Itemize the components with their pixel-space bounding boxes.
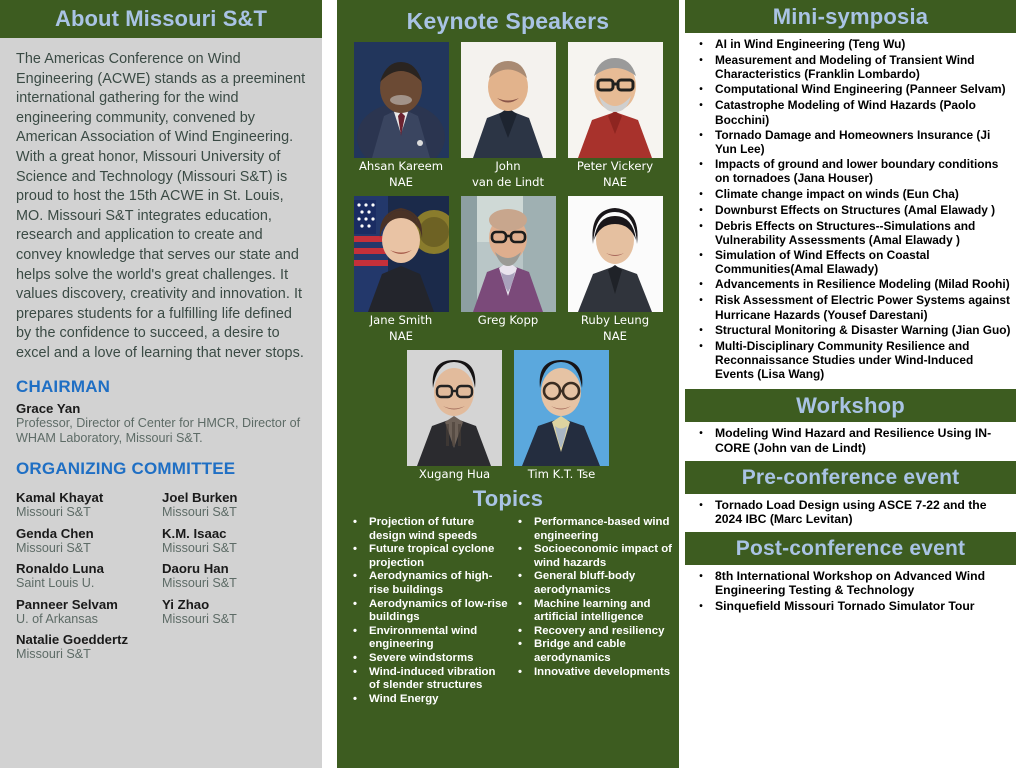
- topic-label: Aerodynamics of low-rise buildings: [369, 598, 508, 625]
- mini-symposia-list: •AI in Wind Engineering (Teng Wu) •Measu…: [685, 33, 1016, 381]
- list-item-label: Climate change impact on winds (Eun Cha): [715, 187, 1012, 202]
- speaker-card: John van de Lindt: [461, 42, 556, 189]
- portrait-ahsan-kareem: [354, 42, 449, 158]
- bullet-icon: •: [349, 652, 369, 666]
- speaker-row-1: Ahsan Kareem NAE John van de Lindt: [337, 42, 679, 189]
- member-affiliation: Missouri S&T: [162, 541, 308, 556]
- about-paragraph: The Americas Conference on Wind Engineer…: [16, 50, 308, 364]
- topic-label: Severe windstorms: [369, 652, 508, 666]
- list-item: •Simulation of Wind Effects on Coastal C…: [687, 248, 1012, 276]
- bullet-icon: •: [687, 293, 715, 321]
- topic-item: •General bluff-body aerodynamics: [514, 570, 673, 597]
- topic-label: General bluff-body aerodynamics: [534, 570, 673, 597]
- bullet-icon: •: [514, 570, 534, 597]
- bullet-icon: •: [687, 98, 715, 126]
- speaker-card: Xugang Hua: [407, 350, 502, 484]
- topic-item: •Aerodynamics of low-rise buildings: [349, 598, 508, 625]
- bullet-icon: •: [514, 638, 534, 665]
- topic-item: •Future tropical cyclone projection: [349, 543, 508, 570]
- list-item: •Impacts of ground and lower boundary co…: [687, 157, 1012, 185]
- bullet-icon: •: [687, 498, 715, 527]
- bullet-icon: •: [514, 516, 534, 543]
- bullet-icon: •: [687, 599, 715, 614]
- topic-item: •Severe windstorms: [349, 652, 508, 666]
- member-affiliation: Missouri S&T: [162, 576, 308, 591]
- list-item-label: Simulation of Wind Effects on Coastal Co…: [715, 248, 1012, 276]
- list-item-label: Impacts of ground and lower boundary con…: [715, 157, 1012, 185]
- list-item: •Tornado Damage and Homeowners Insurance…: [687, 128, 1012, 156]
- committee-member: Ronaldo Luna Saint Louis U.: [16, 561, 162, 591]
- list-item-label: Advancements in Resilience Modeling (Mil…: [715, 277, 1012, 292]
- bullet-icon: •: [687, 323, 715, 338]
- list-item: •Measurement and Modeling of Transient W…: [687, 53, 1012, 81]
- column-divider: [322, 0, 337, 768]
- bullet-icon: •: [687, 203, 715, 218]
- about-body: The Americas Conference on Wind Engineer…: [0, 38, 322, 662]
- chairman-affiliation: Professor, Director of Center for HMCR, …: [16, 416, 308, 447]
- bullet-icon: •: [687, 187, 715, 202]
- portrait-greg-kopp: [461, 196, 556, 312]
- committee-member: Yi Zhao Missouri S&T: [162, 597, 308, 627]
- speaker-card: Jane Smith NAE: [354, 196, 449, 343]
- bullet-icon: •: [349, 693, 369, 707]
- committee-member: Natalie Goeddertz Missouri S&T: [16, 632, 162, 662]
- list-item: •Downburst Effects on Structures (Amal E…: [687, 203, 1012, 218]
- member-affiliation: Missouri S&T: [16, 541, 162, 556]
- topic-item: •Environmental wind engineering: [349, 625, 508, 652]
- speaker-name: Xugang Hua: [407, 468, 502, 482]
- bullet-icon: •: [687, 248, 715, 276]
- member-name: Joel Burken: [162, 490, 308, 505]
- list-item-label: Risk Assessment of Electric Power System…: [715, 293, 1012, 321]
- list-item-label: Tornado Damage and Homeowners Insurance …: [715, 128, 1012, 156]
- bullet-icon: •: [349, 666, 369, 693]
- member-name: Kamal Khayat: [16, 490, 162, 505]
- program-panel: Mini-symposia •AI in Wind Engineering (T…: [679, 0, 1024, 768]
- committee-heading: ORGANIZING COMMITTEE: [16, 459, 308, 479]
- bullet-icon: •: [349, 516, 369, 543]
- member-affiliation: Missouri S&T: [162, 505, 308, 520]
- topic-label: Bridge and cable aerodynamics: [534, 638, 673, 665]
- list-item-label: Structural Monitoring & Disaster Warning…: [715, 323, 1012, 338]
- member-name: Yi Zhao: [162, 597, 308, 612]
- list-item-label: 8th International Workshop on Advanced W…: [715, 569, 1012, 598]
- about-panel: About Missouri S&T The Americas Conferen…: [0, 0, 322, 768]
- bullet-icon: •: [687, 277, 715, 292]
- bullet-icon: •: [514, 598, 534, 625]
- topic-item: •Aerodynamics of high-rise buildings: [349, 570, 508, 597]
- topic-label: Wind-induced vibration of slender struct…: [369, 666, 508, 693]
- topic-label: Socioeconomic impact of wind hazards: [534, 543, 673, 570]
- member-name: K.M. Isaac: [162, 526, 308, 541]
- bullet-icon: •: [687, 53, 715, 81]
- speaker-credential: NAE: [354, 176, 449, 190]
- bullet-icon: •: [687, 128, 715, 156]
- pre-conference-header: Pre-conference event: [685, 461, 1016, 494]
- committee-member: Panneer Selvam U. of Arkansas: [16, 597, 162, 627]
- list-item-label: Modeling Wind Hazard and Resilience Usin…: [715, 426, 1012, 455]
- speaker-card: Tim K.T. Tse: [514, 350, 609, 484]
- committee-member: Joel Burken Missouri S&T: [162, 490, 308, 520]
- list-item-label: Tornado Load Design using ASCE 7-22 and …: [715, 498, 1012, 527]
- list-item: •AI in Wind Engineering (Teng Wu): [687, 37, 1012, 52]
- list-item-label: Computational Wind Engineering (Panneer …: [715, 82, 1012, 97]
- topic-label: Future tropical cyclone projection: [369, 543, 508, 570]
- about-header: About Missouri S&T: [0, 0, 322, 38]
- portrait-peter-vickery: [568, 42, 663, 158]
- list-item: •Multi-Disciplinary Community Resilience…: [687, 339, 1012, 382]
- bullet-icon: •: [687, 157, 715, 185]
- bullet-icon: •: [349, 570, 369, 597]
- portrait-john-van-de-lindt: [461, 42, 556, 158]
- bullet-icon: •: [514, 666, 534, 680]
- topic-label: Machine learning and artificial intellig…: [534, 598, 673, 625]
- speaker-name: Tim K.T. Tse: [514, 468, 609, 482]
- speaker-name: Ruby Leung: [568, 314, 663, 328]
- topic-label: Performance-based wind engineering: [534, 516, 673, 543]
- speaker-credential: van de Lindt: [461, 176, 556, 190]
- pre-conference-list: •Tornado Load Design using ASCE 7-22 and…: [685, 494, 1016, 527]
- list-item: •Climate change impact on winds (Eun Cha…: [687, 187, 1012, 202]
- list-item: •Modeling Wind Hazard and Resilience Usi…: [687, 426, 1012, 455]
- chairman-heading: CHAIRMAN: [16, 377, 308, 397]
- list-item-label: Downburst Effects on Structures (Amal El…: [715, 203, 1012, 218]
- portrait-xugang-hua: [407, 350, 502, 466]
- list-item-label: Catastrophe Modeling of Wind Hazards (Pa…: [715, 98, 1012, 126]
- topic-item: •Machine learning and artificial intelli…: [514, 598, 673, 625]
- speaker-name: John: [461, 160, 556, 174]
- speaker-credential: NAE: [568, 176, 663, 190]
- keynote-panel: Keynote Speakers Ahsan: [337, 0, 679, 768]
- topic-item: •Bridge and cable aerodynamics: [514, 638, 673, 665]
- member-name: Panneer Selvam: [16, 597, 162, 612]
- speaker-card: Greg Kopp: [461, 196, 556, 343]
- list-item-label: Sinquefield Missouri Tornado Simulator T…: [715, 599, 1012, 614]
- topic-item: •Projection of future design wind speeds: [349, 516, 508, 543]
- topic-item: •Socioeconomic impact of wind hazards: [514, 543, 673, 570]
- committee-member: Daoru Han Missouri S&T: [162, 561, 308, 591]
- keynote-title: Keynote Speakers: [337, 0, 679, 35]
- member-affiliation: Missouri S&T: [16, 647, 162, 662]
- topic-item: •Recovery and resiliency: [514, 625, 673, 639]
- committee-member: Genda Chen Missouri S&T: [16, 526, 162, 556]
- committee-member: K.M. Isaac Missouri S&T: [162, 526, 308, 556]
- list-item: •Debris Effects on Structures--Simulatio…: [687, 219, 1012, 247]
- speaker-credential: NAE: [354, 330, 449, 344]
- speaker-row-2: Jane Smith NAE: [337, 196, 679, 343]
- mini-symposia-header: Mini-symposia: [685, 0, 1016, 33]
- bullet-icon: •: [349, 543, 369, 570]
- topics-grid: •Projection of future design wind speeds…: [337, 516, 679, 706]
- post-conference-list: •8th International Workshop on Advanced …: [685, 565, 1016, 614]
- list-item: •Tornado Load Design using ASCE 7-22 and…: [687, 498, 1012, 527]
- workshop-list: •Modeling Wind Hazard and Resilience Usi…: [685, 422, 1016, 455]
- member-name: Natalie Goeddertz: [16, 632, 162, 647]
- committee-column-left: Kamal Khayat Missouri S&T Genda Chen Mis…: [16, 485, 162, 662]
- workshop-header: Workshop: [685, 389, 1016, 422]
- member-affiliation: Missouri S&T: [16, 505, 162, 520]
- speaker-card: Ahsan Kareem NAE: [354, 42, 449, 189]
- committee-grid: Kamal Khayat Missouri S&T Genda Chen Mis…: [16, 485, 308, 662]
- member-affiliation: Saint Louis U.: [16, 576, 162, 591]
- speaker-row-3: Xugang Hua: [337, 350, 679, 484]
- list-item-label: Debris Effects on Structures--Simulation…: [715, 219, 1012, 247]
- member-name: Genda Chen: [16, 526, 162, 541]
- list-item: •8th International Workshop on Advanced …: [687, 569, 1012, 598]
- committee-column-right: Joel Burken Missouri S&T K.M. Isaac Miss…: [162, 485, 308, 662]
- bullet-icon: •: [349, 625, 369, 652]
- portrait-ruby-leung: [568, 196, 663, 312]
- portrait-jane-smith: [354, 196, 449, 312]
- post-conference-header: Post-conference event: [685, 532, 1016, 565]
- bullet-icon: •: [687, 426, 715, 455]
- spacer: [685, 382, 1016, 389]
- member-affiliation: U. of Arkansas: [16, 612, 162, 627]
- bullet-icon: •: [687, 37, 715, 52]
- topic-item: •Wind-induced vibration of slender struc…: [349, 666, 508, 693]
- list-item-label: Measurement and Modeling of Transient Wi…: [715, 53, 1012, 81]
- bullet-icon: •: [687, 219, 715, 247]
- topic-label: Environmental wind engineering: [369, 625, 508, 652]
- topic-label: Wind Energy: [369, 693, 508, 707]
- bullet-icon: •: [687, 82, 715, 97]
- list-item: •Computational Wind Engineering (Panneer…: [687, 82, 1012, 97]
- speaker-name: Peter Vickery: [568, 160, 663, 174]
- topics-column-right: •Performance-based wind engineering •Soc…: [508, 516, 673, 706]
- topic-label: Innovative developments: [534, 666, 673, 680]
- topics-column-left: •Projection of future design wind speeds…: [343, 516, 508, 706]
- bullet-icon: •: [687, 339, 715, 382]
- list-item: •Catastrophe Modeling of Wind Hazards (P…: [687, 98, 1012, 126]
- bullet-icon: •: [349, 598, 369, 625]
- speaker-card: Peter Vickery NAE: [568, 42, 663, 189]
- list-item: •Advancements in Resilience Modeling (Mi…: [687, 277, 1012, 292]
- conference-poster: About Missouri S&T The Americas Conferen…: [0, 0, 1024, 768]
- bullet-icon: •: [514, 625, 534, 639]
- speaker-card: Ruby Leung NAE: [568, 196, 663, 343]
- speaker-credential: NAE: [568, 330, 663, 344]
- topic-item: •Wind Energy: [349, 693, 508, 707]
- topic-label: Projection of future design wind speeds: [369, 516, 508, 543]
- list-item: •Structural Monitoring & Disaster Warnin…: [687, 323, 1012, 338]
- chairman-name: Grace Yan: [16, 401, 308, 416]
- topic-item: •Performance-based wind engineering: [514, 516, 673, 543]
- topic-label: Recovery and resiliency: [534, 625, 673, 639]
- committee-member: Kamal Khayat Missouri S&T: [16, 490, 162, 520]
- member-name: Ronaldo Luna: [16, 561, 162, 576]
- speaker-name: Jane Smith: [354, 314, 449, 328]
- member-affiliation: Missouri S&T: [162, 612, 308, 627]
- speaker-name: Ahsan Kareem: [354, 160, 449, 174]
- bullet-icon: •: [687, 569, 715, 598]
- speaker-name: Greg Kopp: [461, 314, 556, 328]
- list-item-label: AI in Wind Engineering (Teng Wu): [715, 37, 1012, 52]
- list-item: •Risk Assessment of Electric Power Syste…: [687, 293, 1012, 321]
- member-name: Daoru Han: [162, 561, 308, 576]
- topic-item: •Innovative developments: [514, 666, 673, 680]
- portrait-tim-kt-tse: [514, 350, 609, 466]
- topics-title: Topics: [337, 486, 679, 512]
- list-item: •Sinquefield Missouri Tornado Simulator …: [687, 599, 1012, 614]
- list-item-label: Multi-Disciplinary Community Resilience …: [715, 339, 1012, 382]
- topic-label: Aerodynamics of high-rise buildings: [369, 570, 508, 597]
- bullet-icon: •: [514, 543, 534, 570]
